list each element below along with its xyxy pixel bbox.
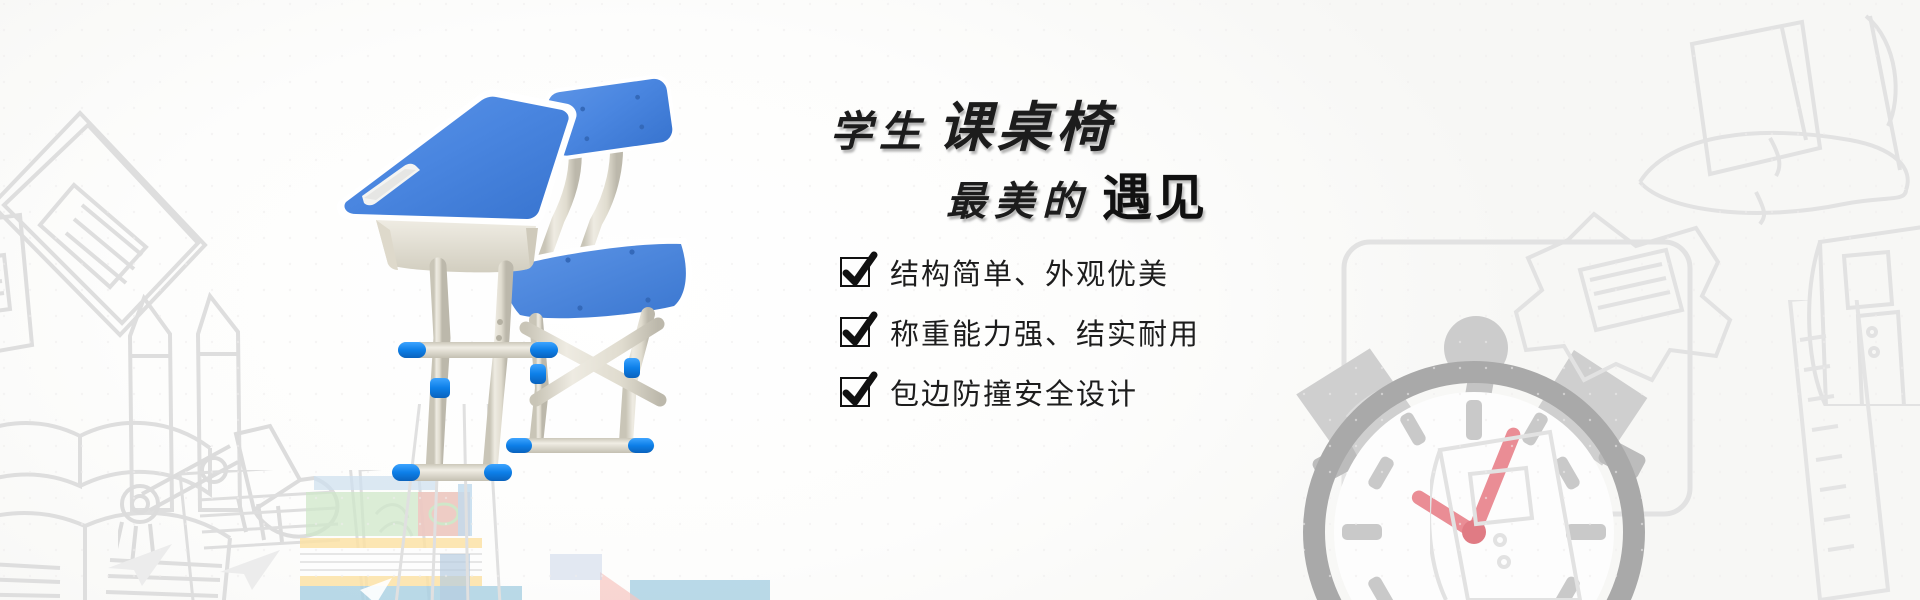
pencil-outline-icon [110,290,300,520]
feature-item: 称重能力强、结实耐用 [840,310,1200,354]
open-book-outline-icon [0,390,300,600]
headline-line-2-emphasis: 遇见 [1102,170,1208,226]
backpack-outline-icon [1430,200,1750,600]
product-image-student-desk-and-chair [330,70,810,500]
ruler-outline-icon [1760,300,1920,600]
feature-label: 包边防撞安全设计 [890,371,1138,413]
feature-item: 包边防撞安全设计 [840,370,1200,414]
headline-line-1: 学生课桌椅 [830,101,1115,155]
notebook-outline-icon [0,95,330,395]
paper-plane-icon [214,546,294,592]
feature-list: 结构简单、外观优美 称重能力强、结实耐用 包边防撞安 [840,250,1200,430]
clock-minute-hand [1465,426,1522,541]
headline-line-2: 最美的遇见 [946,173,1208,223]
headline-line-1-emphasis: 课桌椅 [938,98,1115,158]
feature-item: 结构简单、外观优美 [840,250,1200,294]
clock-hour-hand [1409,488,1484,542]
headline-line-2-prefix: 最美的 [946,179,1090,224]
paper-plane-icon [98,540,188,590]
promo-banner: 学生课桌椅 最美的遇见 结构简单、外观优美 [0,0,1920,600]
banner-copy: 学生课桌椅 最美的遇见 结构简单、外观优美 [818,95,1458,485]
desk-chair-illustration [330,70,810,500]
checkbox-check-icon [840,377,870,407]
feature-label: 结构简单、外观优美 [890,251,1169,293]
checkbox-check-icon [840,257,870,287]
satchel-bag-outline-icon [1630,6,1920,406]
checkbox-check-icon [840,317,870,347]
feature-label: 称重能力强、结实耐用 [890,311,1200,353]
headline-line-1-prefix: 学生 [830,110,928,156]
